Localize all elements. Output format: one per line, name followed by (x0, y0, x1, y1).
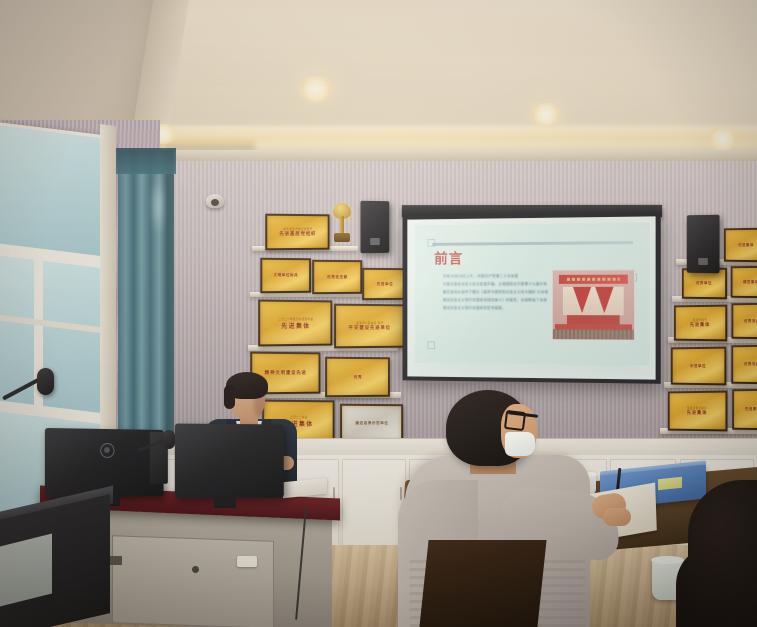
plaque-title: 先进集体 (690, 322, 711, 328)
slide-photo-drape (573, 287, 591, 313)
plaque-subtitle: 二〇二一年度目标管理考核 (278, 316, 313, 320)
slide-title-rule (432, 241, 633, 246)
plaque-title: 先进基层党组织 (279, 231, 316, 237)
chair-seat (419, 540, 546, 627)
award-plaque: 先进单位 (362, 268, 407, 300)
cabinet-door[interactable] (342, 459, 406, 559)
curtain-highlight (150, 176, 166, 236)
slide-photo-audience (553, 329, 634, 340)
award-plaque: 某某市授予 先进集体 (674, 305, 727, 342)
wall-cornice (148, 150, 757, 161)
plaque-subtitle: 某某市人民政府 授予 (356, 321, 384, 325)
award-plaque: 优秀党支部 (312, 260, 362, 294)
award-plaque: 模范集体 (731, 266, 757, 299)
trophy-base (334, 233, 350, 242)
speaker-badge-icon (370, 238, 380, 245)
plaque-title: 先进集体 (745, 407, 757, 412)
plaque-title: 先进单位 (377, 281, 393, 286)
plaque-subtitle: 二〇二二年度 (290, 414, 308, 418)
slide-photo-banner (559, 275, 628, 284)
slide-photo-drape (595, 287, 613, 313)
slide-title: 前言 (434, 249, 463, 269)
slide-body-line: 建设社会主义现代化国家的宏伟蓝图。 (436, 304, 556, 312)
slide-body-line: 委员会向大会作了题为《高举中国特色社会主义伟大旗帜 为全面 (436, 288, 556, 296)
dell-logo-icon (100, 443, 114, 458)
award-plaque: 文明单位标兵 (260, 258, 311, 294)
plaque-subtitle: 某某市授予 (693, 318, 707, 322)
plaque-title: 优秀党支部 (327, 274, 348, 279)
award-plaque: 先进集体 (724, 228, 757, 263)
wall-speaker-right (687, 215, 720, 274)
plaque-title: 先进集体 (281, 320, 310, 329)
monitor-right[interactable] (175, 424, 284, 499)
podium-latch[interactable] (192, 566, 199, 573)
slide-body-line: 代表大会在北京人民大会堂开幕。主席团同志代表第十九届中央 (436, 280, 556, 288)
plaque-title: 精神文明建设先进 (265, 370, 307, 376)
ceiling-downlight (706, 127, 740, 151)
plaque-title: 示范单位 (690, 363, 706, 368)
plaque-title: 平安建设先进单位 (349, 325, 391, 331)
foreground-attendee-head (688, 480, 757, 627)
award-plaque: 某某市人民政府 授予 平安建设先进单位 (334, 304, 405, 349)
face-mask-icon (505, 432, 535, 456)
projector-screen: 前言 今年10月18日上午，中国共产党第二十次全国 代表大会在北京人民大会堂开幕… (407, 216, 655, 379)
slide-corner-mark (427, 341, 435, 349)
plaque-title: 优秀党建 (744, 362, 757, 367)
plaque-title: 廉洁自律示范单位 (355, 420, 388, 425)
award-plaque: 廉洁自律示范单位 (340, 404, 403, 443)
wall-speaker-left (360, 201, 389, 253)
speaker-badge-icon (698, 258, 708, 265)
podium-panel (112, 535, 274, 627)
slide-photo (552, 270, 635, 341)
plaque-title: 先进集体 (738, 242, 754, 247)
slide-photo-podium (567, 315, 620, 324)
plaque-title: 模范集体 (743, 279, 757, 284)
award-plaque: 优秀 (325, 357, 390, 398)
ceiling-downlight (529, 103, 563, 126)
presenter-hair-side (224, 385, 235, 409)
plaque-title: 优秀 (354, 374, 362, 379)
plaque-title: 先进集体 (687, 410, 708, 416)
slide-body-line: 建设社会主义现代化国家而团结奋斗》的报告，全面擘画了全面 (436, 296, 556, 304)
slide-body-text: 今年10月18日上午，中国共产党第二十次全国 代表大会在北京人民大会堂开幕。主席… (436, 272, 556, 312)
microphone-icon (163, 430, 175, 449)
award-plaque: 优秀党建 (731, 345, 757, 385)
award-plaque: 中共某某市委员会授予 先进基层党组织 (265, 214, 329, 251)
cabinet-handle[interactable] (400, 487, 402, 500)
award-plaque: 某某县委县政府 先进集体 (668, 391, 728, 432)
microphone-icon (37, 368, 54, 395)
camera-lens-icon (211, 199, 219, 206)
ceiling-downlight (297, 76, 335, 102)
ceiling-recess (136, 0, 757, 140)
podium-device[interactable] (237, 556, 257, 567)
curtain-header (116, 148, 176, 174)
window-pane (0, 124, 104, 259)
plaque-title: 优秀党建 (744, 318, 757, 323)
conference-room-photo: 中共某某市委员会授予 先进基层党组织 文明单位标兵 优秀党支部 先进单位 二〇二… (0, 0, 757, 627)
plaque-title: 文明单位标兵 (274, 273, 299, 278)
attendee-hand (603, 508, 631, 526)
plaque-subtitle: 某某县委县政府 (687, 406, 707, 410)
award-plaque: 二〇二一年度目标管理考核 先进集体 (258, 300, 332, 347)
award-plaque: 先进集体 (732, 389, 757, 431)
award-plaque: 优秀党建 (731, 303, 757, 340)
plaque-subtitle: 中共某某市委员会授予 (283, 227, 312, 231)
presentation-slide: 前言 今年10月18日上午，中国共产党第二十次全国 代表大会在北京人民大会堂开幕… (415, 223, 649, 366)
award-plaque: 示范单位 (671, 347, 726, 386)
plaque-title: 优秀单位 (696, 281, 712, 286)
